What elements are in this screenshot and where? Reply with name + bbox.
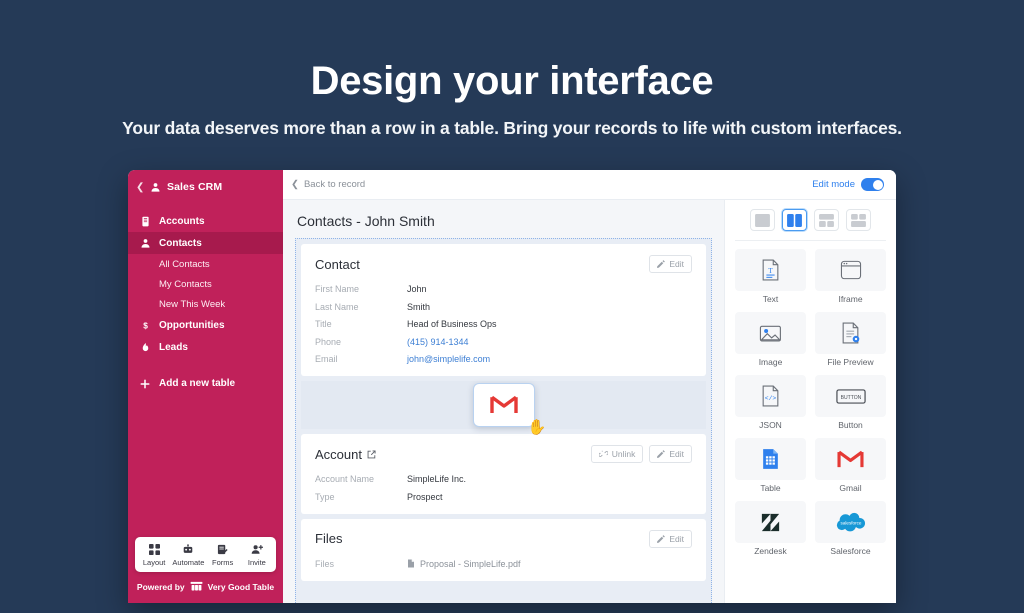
widget-label: File Preview: [815, 357, 886, 367]
gmail-icon: [837, 449, 864, 470]
card-header: Contact Edit: [315, 255, 692, 273]
two-column-layout-icon: [787, 214, 802, 227]
widget-label: Salesforce: [815, 546, 886, 556]
widget-label: Iframe: [815, 294, 886, 304]
svg-text:</>: </>: [765, 395, 777, 402]
edit-button[interactable]: Edit: [649, 445, 692, 463]
zendesk-icon: [759, 511, 782, 534]
back-to-record-label: Back to record: [304, 179, 365, 190]
add-new-table-label: Add a new table: [159, 378, 235, 389]
unlink-button[interactable]: Unlink: [591, 445, 644, 463]
plus-icon: [139, 378, 150, 389]
app-title: Sales CRM: [167, 181, 222, 193]
flame-icon: [140, 342, 151, 353]
sidebar-item-leads[interactable]: Leads: [128, 336, 283, 358]
add-user-icon: [240, 543, 274, 556]
powered-by-prefix: Powered by: [137, 582, 185, 592]
page-subtitle: Your data deserves more than a row in a …: [0, 118, 1024, 139]
header-split-layout-icon: [819, 214, 834, 227]
main-area: ❮ Back to record Edit mode Contacts - Jo…: [283, 170, 896, 603]
file-preview-icon: [841, 322, 860, 344]
widget-image[interactable]: Image: [735, 312, 806, 367]
widget-iframe[interactable]: Iframe: [815, 249, 886, 304]
app-window: ❮ Sales CRM Accounts Contacts All Contac…: [128, 170, 896, 603]
widget-table[interactable]: Table: [735, 438, 806, 493]
document-icon: [407, 559, 415, 568]
palette-divider: [735, 240, 886, 241]
sidebar-item-my-contacts[interactable]: My Contacts: [128, 274, 283, 294]
card-header: Files Edit: [315, 530, 692, 548]
widget-tile: </>: [735, 375, 806, 417]
layout-drop-region[interactable]: Contact Edit First Name John: [295, 238, 712, 603]
edit-button-label: Edit: [669, 534, 684, 544]
sidebar-tool-automate[interactable]: Automate: [171, 543, 205, 567]
button-icon: BUTTON: [836, 389, 866, 404]
browser-window-icon: [840, 260, 862, 280]
sidebar-footer: Layout Automate Forms: [128, 537, 283, 603]
field-row: Last Name Smith: [315, 302, 692, 312]
widget-drop-slot[interactable]: ✋: [301, 381, 706, 429]
widget-gmail[interactable]: Gmail: [815, 438, 886, 493]
image-icon: [759, 324, 782, 343]
sidebar-header[interactable]: ❮ Sales CRM: [128, 170, 283, 204]
sidebar-item-label: Leads: [159, 342, 188, 353]
sidebar-item-contacts[interactable]: Contacts: [128, 232, 283, 254]
widget-grid: T Text Iframe Image: [735, 249, 886, 556]
form-icon: [206, 543, 240, 556]
field-label: Files: [315, 559, 407, 569]
field-row: Account Name SimpleLife Inc.: [315, 474, 692, 484]
widget-label: Image: [735, 357, 806, 367]
field-label: Phone: [315, 337, 407, 347]
card-buttons: Edit: [649, 530, 692, 548]
sidebar-tool-forms[interactable]: Forms: [206, 543, 240, 567]
pencil-icon: [657, 535, 665, 543]
pencil-icon: [657, 260, 665, 268]
record-canvas: Contacts - John Smith Contact Edit: [283, 200, 724, 603]
field-value: Smith: [407, 302, 430, 312]
topbar: ❮ Back to record Edit mode: [283, 170, 896, 200]
widget-tile: [735, 438, 806, 480]
field-value: SimpleLife Inc.: [407, 474, 466, 484]
sidebar-item-label: Opportunities: [159, 320, 225, 331]
widget-button[interactable]: BUTTON Button: [815, 375, 886, 430]
edit-button-label: Edit: [669, 449, 684, 459]
widget-file-preview[interactable]: File Preview: [815, 312, 886, 367]
phone-value[interactable]: (415) 914-1344: [407, 337, 469, 347]
single-column-layout-icon: [755, 214, 770, 227]
field-label: Account Name: [315, 474, 407, 484]
svg-text:BUTTON: BUTTON: [840, 394, 861, 400]
two-column-layout-button[interactable]: [782, 209, 807, 231]
table-brand-icon: [190, 581, 203, 593]
sidebar-tool-invite[interactable]: Invite: [240, 543, 274, 567]
json-code-icon: </>: [761, 385, 780, 407]
single-column-layout-button[interactable]: [750, 209, 775, 231]
header-split-layout-button[interactable]: [814, 209, 839, 231]
field-row: Files Proposal - SimpleLife.pdf: [315, 559, 692, 569]
card-title: Contact: [315, 257, 360, 272]
sidebar-tool-label: Invite: [240, 558, 274, 567]
widget-palette: T Text Iframe Image: [724, 200, 896, 603]
widget-label: Text: [735, 294, 806, 304]
edit-button[interactable]: Edit: [649, 255, 692, 273]
field-label: Type: [315, 492, 407, 502]
card-header: Account Unlink Edit: [315, 445, 692, 463]
sidebar-item-label: Contacts: [159, 238, 202, 249]
sidebar-item-label: Accounts: [159, 216, 205, 227]
unlink-button-label: Unlink: [612, 449, 636, 459]
widget-label: Zendesk: [735, 546, 806, 556]
sidebar-item-new-this-week[interactable]: New This Week: [128, 294, 283, 314]
sidebar-item-accounts[interactable]: Accounts: [128, 210, 283, 232]
record-heading: Contacts - John Smith: [297, 213, 712, 229]
svg-text:salesforce: salesforce: [840, 520, 861, 525]
grab-hand-cursor: ✋: [528, 420, 547, 435]
email-value[interactable]: john@simplelife.com: [407, 354, 490, 364]
edit-mode-toggle[interactable]: [861, 178, 884, 191]
field-row: Email john@simplelife.com: [315, 354, 692, 364]
widget-tile: [735, 312, 806, 354]
field-value: Prospect: [407, 492, 443, 502]
widget-tile: T: [735, 249, 806, 291]
field-row: First Name John: [315, 284, 692, 294]
sidebar-split-layout-button[interactable]: [846, 209, 871, 231]
svg-text:T: T: [768, 266, 773, 275]
robot-icon: [171, 543, 205, 556]
field-label: Title: [315, 319, 407, 329]
layout-selector: [735, 209, 886, 231]
hero-section: Design your interface Your data deserves…: [0, 0, 1024, 139]
field-label: Email: [315, 354, 407, 364]
widget-tile: [735, 501, 806, 543]
card-buttons: Edit: [649, 255, 692, 273]
add-new-table-button[interactable]: Add a new table: [128, 373, 283, 394]
contact-person-icon: [150, 182, 161, 193]
file-name: Proposal - SimpleLife.pdf: [420, 559, 521, 569]
edit-mode-control[interactable]: Edit mode: [812, 178, 884, 191]
widget-tile: BUTTON: [815, 375, 886, 417]
widget-salesforce[interactable]: salesforce Salesforce: [815, 501, 886, 556]
dollar-icon: $: [140, 320, 151, 331]
sidebar-tool-label: Automate: [171, 558, 205, 567]
sidebar-item-all-contacts[interactable]: All Contacts: [128, 254, 283, 274]
contact-person-icon: [140, 238, 151, 249]
file-attachment[interactable]: Proposal - SimpleLife.pdf: [407, 559, 521, 569]
widget-label: Button: [815, 420, 886, 430]
powered-by-brand: Very Good Table: [208, 582, 274, 592]
contact-card[interactable]: Contact Edit First Name John: [301, 244, 706, 376]
external-link-icon[interactable]: [367, 450, 376, 459]
field-row: Phone (415) 914-1344: [315, 337, 692, 347]
edit-mode-label: Edit mode: [812, 179, 855, 190]
field-row: Title Head of Business Ops: [315, 319, 692, 329]
pencil-icon: [657, 450, 665, 458]
sidebar: ❮ Sales CRM Accounts Contacts All Contac…: [128, 170, 283, 603]
unlink-icon: [599, 450, 608, 458]
widget-label: Gmail: [815, 483, 886, 493]
account-card[interactable]: Account Unlink Edit: [301, 434, 706, 514]
card-title: Account: [315, 447, 376, 462]
sidebar-nav: Accounts Contacts All Contacts My Contac…: [128, 204, 283, 394]
dragged-gmail-widget[interactable]: [473, 383, 535, 427]
widget-label: JSON: [735, 420, 806, 430]
widget-json[interactable]: </> JSON: [735, 375, 806, 430]
widget-zendesk[interactable]: Zendesk: [735, 501, 806, 556]
salesforce-icon: salesforce: [835, 511, 867, 533]
widget-tile: [815, 312, 886, 354]
sidebar-tool-layout[interactable]: Layout: [137, 543, 171, 567]
sidebar-item-opportunities[interactable]: $ Opportunities: [128, 314, 283, 336]
edit-button[interactable]: Edit: [649, 530, 692, 548]
svg-text:$: $: [143, 321, 148, 330]
page-title: Design your interface: [0, 58, 1024, 104]
edit-button-label: Edit: [669, 259, 684, 269]
powered-by: Powered by Very Good Table: [135, 572, 276, 603]
card-buttons: Unlink Edit: [591, 445, 692, 463]
widget-tile: [815, 249, 886, 291]
sidebar-tool-label: Layout: [137, 558, 171, 567]
card-title: Files: [315, 531, 342, 546]
widget-label: Table: [735, 483, 806, 493]
card-title-text: Account: [315, 447, 362, 462]
sidebar-tool-label: Forms: [206, 558, 240, 567]
gmail-icon: [490, 394, 518, 416]
building-icon: [140, 216, 151, 227]
widget-tile: salesforce: [815, 501, 886, 543]
files-card[interactable]: Files Edit Files: [301, 519, 706, 581]
field-label: Last Name: [315, 302, 407, 312]
chevron-left-icon[interactable]: ❮: [136, 182, 144, 193]
sidebar-split-layout-icon: [851, 214, 866, 227]
body-area: Contacts - John Smith Contact Edit: [283, 200, 896, 603]
field-value: John: [407, 284, 427, 294]
back-to-record-link[interactable]: ❮ Back to record: [291, 179, 365, 190]
sidebar-tool-card: Layout Automate Forms: [135, 537, 276, 572]
chevron-left-icon: ❮: [291, 179, 299, 190]
field-label: First Name: [315, 284, 407, 294]
widget-text[interactable]: T Text: [735, 249, 806, 304]
text-document-icon: T: [761, 259, 780, 281]
field-row: Type Prospect: [315, 492, 692, 502]
grid-icon: [137, 543, 171, 556]
field-value: Head of Business Ops: [407, 319, 497, 329]
widget-tile: [815, 438, 886, 480]
table-icon: [761, 448, 780, 470]
